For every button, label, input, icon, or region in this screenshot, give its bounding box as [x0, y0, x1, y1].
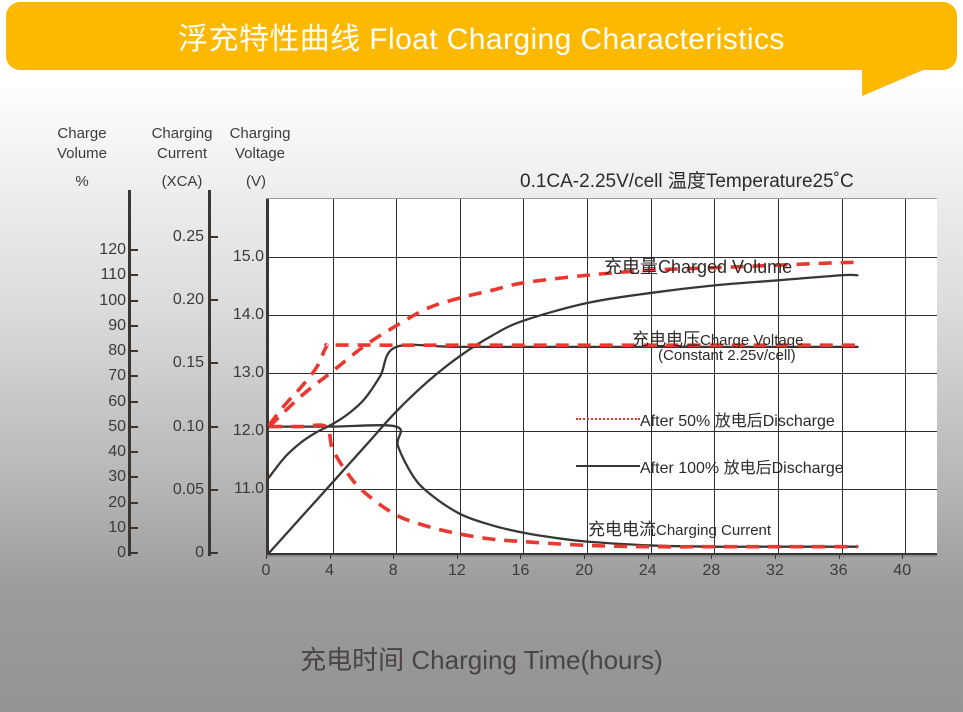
chart-page: 浮充特性曲线 Float Charging Characteristics Ch… [0, 0, 963, 712]
axis-tick-label: 110 [56, 266, 126, 284]
axis-tick-mark [208, 236, 218, 238]
legend-swatch-solid-icon [576, 465, 640, 467]
axis-header-charging-voltage: Charging Voltage [212, 124, 308, 164]
annotation-charged-volume-en: Charged Volume [658, 257, 792, 277]
title-banner: 浮充特性曲线 Float Charging Characteristics [0, 0, 963, 96]
axis-tick-label: 10 [56, 519, 126, 537]
condition-note: 0.1CA-2.25V/cell 温度Temperature25˚C [520, 166, 854, 193]
x-tick-label: 4 [325, 562, 334, 580]
axis-tick-label: 40 [56, 443, 126, 461]
axis-tick-label: 60 [56, 393, 126, 411]
plot-area [266, 199, 937, 556]
x-tick-label: 32 [766, 562, 784, 580]
x-tick-label: 20 [575, 562, 593, 580]
axis-tick-label: 30 [56, 468, 126, 486]
axis-tick-label: 80 [56, 342, 126, 360]
axis-tick-mark [128, 401, 138, 403]
x-axis-title: 充电时间 Charging Time(hours) [0, 640, 963, 677]
axis-unit-charge-volume: % [34, 173, 130, 190]
axis-tick-mark [208, 552, 218, 554]
axis-tick-mark [128, 325, 138, 327]
legend-label-after-100: After 100% 放电后Discharge [640, 454, 844, 478]
x-tick-mark [266, 553, 267, 559]
x-tick-label: 24 [639, 562, 657, 580]
legend-swatch-dotted-icon [576, 418, 640, 420]
axis-header-line1: Charging [212, 124, 308, 144]
x-axis-baseline [266, 555, 937, 557]
axis-tick-label: 0.25 [134, 228, 204, 246]
banner-tail-icon [862, 68, 928, 96]
axis-tick-label: 0 [134, 544, 204, 562]
x-tick-mark [711, 553, 712, 559]
x-tick-mark [520, 553, 521, 559]
x-tick-label: 36 [830, 562, 848, 580]
x-tick-mark [902, 553, 903, 559]
x-tick-mark [393, 553, 394, 559]
annotation-charging-current: 充电电流Charging Current [588, 515, 771, 540]
x-tick-label: 28 [702, 562, 720, 580]
axis-tick-mark [128, 249, 138, 251]
annotation-charged-volume-cn: 充电量 [604, 257, 658, 277]
axis-tick-label: 15.0 [194, 248, 264, 266]
axis-header-charge-volume: Charge Volume [34, 124, 130, 164]
x-tick-mark [648, 553, 649, 559]
axis-tick-label: 12.0 [194, 422, 264, 440]
legend-label-after-50: After 50% 放电后Discharge [640, 407, 835, 431]
axis-tick-mark [128, 502, 138, 504]
axis-tick-mark [208, 299, 218, 301]
annotation-charged-volume: 充电量Charged Volume [604, 253, 792, 279]
axis-tick-label: 50 [56, 418, 126, 436]
axis-tick-mark [128, 375, 138, 377]
x-tick-mark [330, 553, 331, 559]
axis-tick-mark [128, 451, 138, 453]
axis-tick-mark [128, 527, 138, 529]
x-tick-mark [457, 553, 458, 559]
x-tick-mark [584, 553, 585, 559]
axis-header-line2: Volume [34, 144, 130, 164]
annotation-charging-current-cn: 充电电流 [588, 520, 656, 539]
annotation-charging-current-en: Charging Current [656, 522, 771, 539]
axis-tick-label: 13.0 [194, 364, 264, 382]
axis-tick-label: 14.0 [194, 306, 264, 324]
axis-tick-label: 90 [56, 317, 126, 335]
x-tick-label: 16 [512, 562, 530, 580]
page-title: 浮充特性曲线 Float Charging Characteristics [6, 2, 957, 70]
banner-body: 浮充特性曲线 Float Charging Characteristics [6, 2, 957, 70]
x-tick-label: 8 [389, 562, 398, 580]
axis-tick-label: 70 [56, 367, 126, 385]
curve-layer [269, 199, 937, 553]
x-tick-label: 12 [448, 562, 466, 580]
axis-tick-mark [128, 274, 138, 276]
annotation-charge-voltage-sub: (Constant 2.25v/cell) [658, 347, 796, 364]
axis-header-line1: Charge [34, 124, 130, 144]
x-tick-mark [775, 553, 776, 559]
axis-tick-mark [128, 350, 138, 352]
axis-tick-label: 20 [56, 494, 126, 512]
x-tick-label: 0 [262, 562, 271, 580]
axis-header-line2: Voltage [212, 144, 308, 164]
x-tick-label: 40 [893, 562, 911, 580]
axis-unit-charging-voltage: (V) [208, 173, 304, 190]
x-tick-mark [839, 553, 840, 559]
axis-tick-label: 11.0 [194, 480, 264, 498]
axis-tick-mark [128, 476, 138, 478]
axis-tick-label: 0 [56, 544, 126, 562]
axis-tick-label: 100 [56, 292, 126, 310]
axis-tick-label: 120 [56, 241, 126, 259]
